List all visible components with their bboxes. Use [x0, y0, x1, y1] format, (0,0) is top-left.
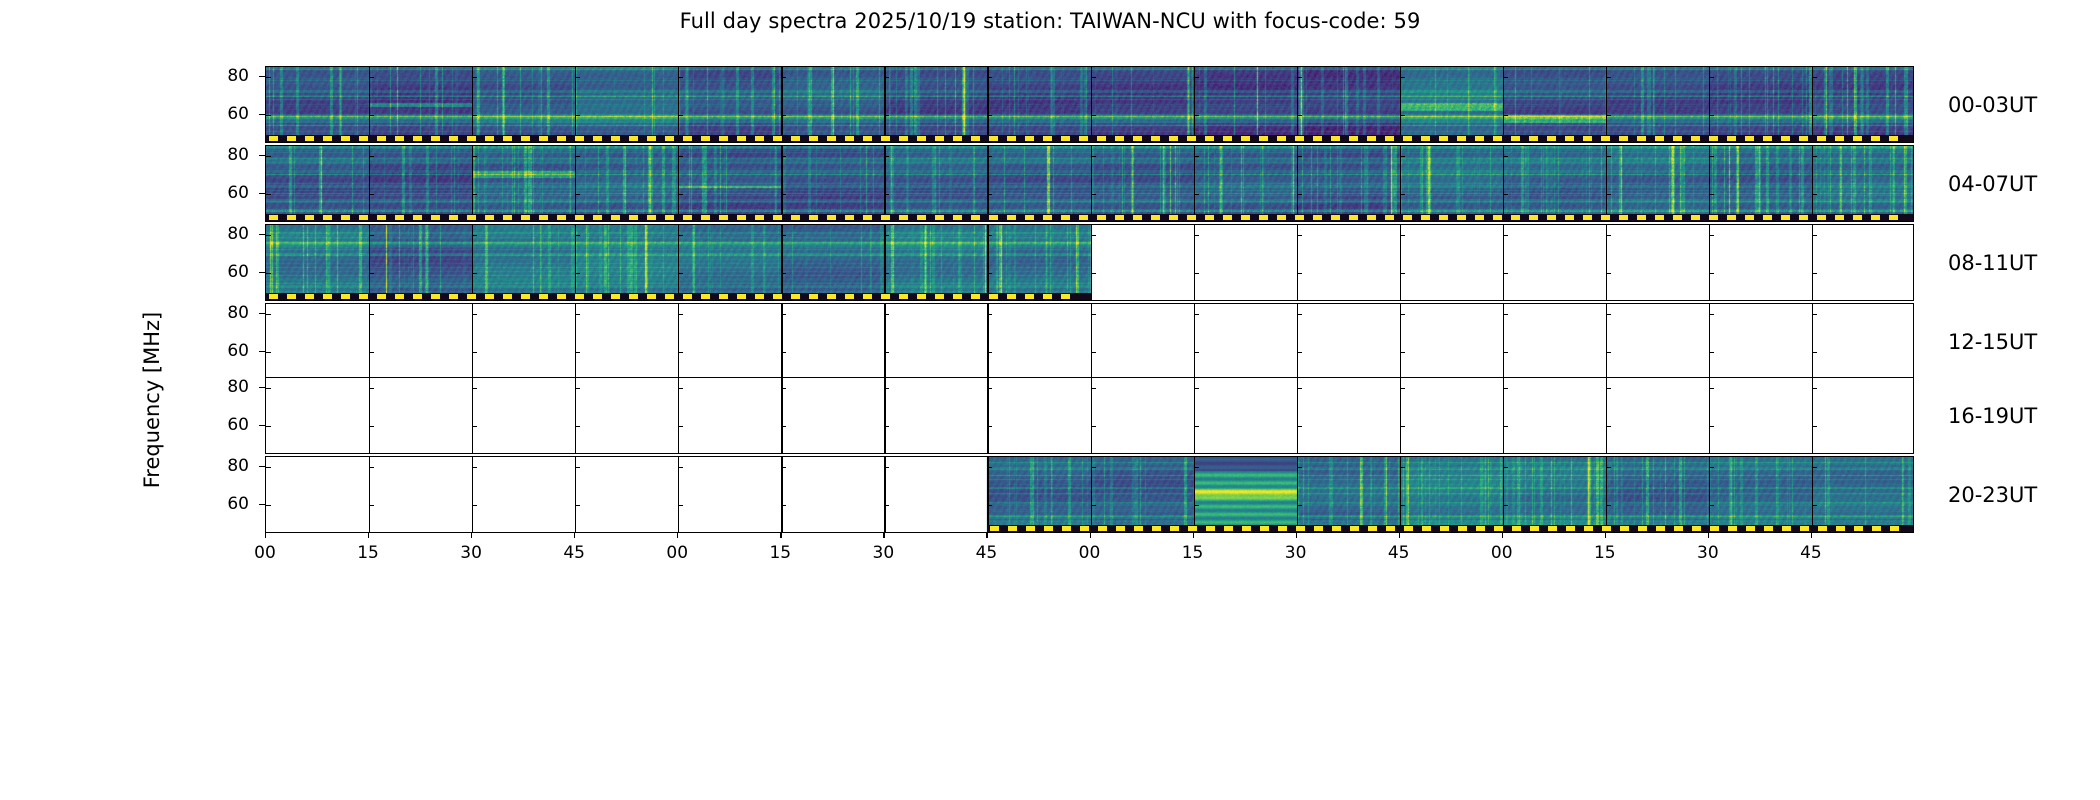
panel-separator: [369, 67, 370, 142]
panel-y-tick: [781, 235, 786, 236]
panel-y-tick: [1297, 505, 1302, 506]
panel-y-tick: [781, 388, 786, 389]
panel-separator: [1503, 146, 1504, 221]
marker-dash: [863, 215, 872, 220]
panel-separator: [1709, 378, 1710, 453]
panel-y-tick: [1606, 426, 1611, 427]
panel-y-tick: [266, 156, 271, 157]
marker-dash: [1458, 526, 1467, 531]
panel-separator: [781, 457, 782, 532]
panel-separator: [781, 146, 782, 221]
panel-y-tick: [781, 194, 786, 195]
marker-dash: [845, 294, 854, 299]
marker-dash: [971, 294, 980, 299]
panel-y-tick: [1812, 467, 1817, 468]
panel-separator: [472, 457, 473, 532]
marker-dash: [1277, 136, 1286, 141]
row-label-12-15ut: 12-15UT: [1948, 330, 2037, 354]
marker-dash: [755, 215, 764, 220]
panel-y-tick: [1400, 426, 1405, 427]
panel-y-tick: [1503, 115, 1508, 116]
marker-dash: [1547, 136, 1556, 141]
marker-dash: [629, 136, 638, 141]
panel-y-tick: [1400, 352, 1405, 353]
panel-y-tick: [1606, 467, 1611, 468]
panel-separator: [1503, 304, 1504, 379]
marker-dash: [611, 136, 620, 141]
panel-separator: [1400, 146, 1401, 221]
y-tick-label: 60: [199, 415, 249, 435]
panel-y-tick: [369, 115, 374, 116]
marker-dash: [737, 215, 746, 220]
marker-dash: [1799, 215, 1808, 220]
marker-dash: [1655, 215, 1664, 220]
marker-dash: [1782, 526, 1791, 531]
marker-dash: [1007, 215, 1016, 220]
panel-y-tick: [1606, 314, 1611, 315]
marker-dash: [1530, 526, 1539, 531]
panel-separator: [678, 146, 679, 221]
x-tick-label: 15: [1594, 543, 1616, 563]
marker-dash: [809, 215, 818, 220]
marker-dash: [575, 136, 584, 141]
panel-y-tick: [575, 194, 580, 195]
marker-dash: [647, 215, 656, 220]
marker-dash: [1061, 215, 1070, 220]
marker-dash: [629, 215, 638, 220]
data-availability-marker: [266, 293, 1091, 300]
y-tick-mark: [259, 313, 265, 314]
marker-dash: [341, 215, 350, 220]
panel-y-tick: [678, 505, 683, 506]
data-availability-marker: [987, 525, 1914, 532]
panel-y-tick: [472, 426, 477, 427]
y-tick-label: 60: [199, 183, 249, 203]
panel-y-tick: [369, 194, 374, 195]
marker-dash: [413, 136, 422, 141]
panel-separator: [884, 457, 885, 532]
y-tick-label: 60: [199, 104, 249, 124]
panel-y-tick: [1503, 77, 1508, 78]
marker-dash: [287, 215, 296, 220]
x-tick-mark: [368, 533, 369, 538]
marker-dash: [1781, 215, 1790, 220]
marker-dash: [1836, 526, 1845, 531]
panel-separator: [369, 146, 370, 221]
x-tick-label: 45: [1388, 543, 1410, 563]
panel-y-tick: [472, 235, 477, 236]
marker-dash: [1241, 136, 1250, 141]
panel-y-tick: [266, 115, 271, 116]
marker-dash: [269, 215, 278, 220]
panel-y-tick: [472, 115, 477, 116]
marker-dash: [1061, 136, 1070, 141]
panel-y-tick: [1709, 77, 1714, 78]
marker-dash: [1367, 215, 1376, 220]
marker-dash: [1512, 526, 1521, 531]
x-tick-label: 30: [1697, 543, 1719, 563]
marker-dash: [935, 136, 944, 141]
marker-dash: [1475, 136, 1484, 141]
panel-y-tick: [884, 505, 889, 506]
panel-y-tick: [1400, 467, 1405, 468]
panel-y-tick: [1709, 314, 1714, 315]
panel-y-tick: [1091, 273, 1096, 274]
panel-y-tick: [369, 352, 374, 353]
marker-dash: [1692, 526, 1701, 531]
marker-dash: [1205, 215, 1214, 220]
panel-y-tick: [472, 156, 477, 157]
y-tick-mark: [259, 155, 265, 156]
marker-dash: [1854, 526, 1863, 531]
panel-y-tick: [1091, 352, 1096, 353]
x-tick-mark: [1811, 533, 1812, 538]
x-tick-label: 15: [1182, 543, 1204, 563]
marker-dash: [1674, 526, 1683, 531]
marker-dash: [1008, 526, 1017, 531]
panel-y-tick: [1400, 388, 1405, 389]
row-label-16-19ut: 16-19UT: [1948, 404, 2037, 428]
panel-y-tick: [678, 467, 683, 468]
x-tick-mark: [1708, 533, 1709, 538]
panel-separator: [1709, 457, 1710, 532]
marker-dash: [449, 136, 458, 141]
marker-dash: [773, 215, 782, 220]
panel-y-tick: [1297, 467, 1302, 468]
marker-dash: [1727, 215, 1736, 220]
panel-y-tick: [1503, 426, 1508, 427]
x-tick-label: 00: [666, 543, 688, 563]
marker-dash: [1313, 136, 1322, 141]
marker-dash: [1061, 294, 1070, 299]
panel-separator: [987, 304, 988, 379]
panel-y-tick: [1709, 194, 1714, 195]
panel-y-tick: [1400, 314, 1405, 315]
panel-separator: [987, 457, 988, 532]
marker-dash: [305, 136, 314, 141]
marker-dash: [1476, 526, 1485, 531]
panel-y-tick: [575, 426, 580, 427]
panel-separator: [884, 304, 885, 379]
marker-dash: [1098, 526, 1107, 531]
panel-y-tick: [1709, 156, 1714, 157]
panel-y-tick: [1297, 314, 1302, 315]
marker-dash: [1349, 215, 1358, 220]
panel-y-tick: [1812, 314, 1817, 315]
marker-dash: [1367, 136, 1376, 141]
marker-dash: [1278, 526, 1287, 531]
marker-dash: [863, 294, 872, 299]
x-tick-mark: [471, 533, 472, 538]
panel-y-tick: [266, 314, 271, 315]
panel-separator: [1503, 457, 1504, 532]
panel-y-tick: [781, 467, 786, 468]
panel-y-tick: [575, 235, 580, 236]
panel-separator: [1091, 146, 1092, 221]
panel-y-tick: [1709, 426, 1714, 427]
panel-y-tick: [1400, 235, 1405, 236]
panel-y-tick: [678, 426, 683, 427]
panel-separator: [884, 378, 885, 453]
marker-dash: [1457, 136, 1466, 141]
panel-y-tick: [781, 115, 786, 116]
marker-dash: [323, 136, 332, 141]
panel-y-tick: [1606, 115, 1611, 116]
spectrogram-row-00-03ut[interactable]: [265, 66, 1914, 143]
panel-y-tick: [1091, 156, 1096, 157]
marker-dash: [1655, 136, 1664, 141]
row-label-08-11ut: 08-11UT: [1948, 251, 2037, 275]
marker-dash: [611, 215, 620, 220]
marker-dash: [1673, 136, 1682, 141]
marker-dash: [503, 215, 512, 220]
panel-separator: [472, 378, 473, 453]
panel-separator: [1297, 146, 1298, 221]
x-tick-mark: [1399, 533, 1400, 538]
marker-dash: [1062, 526, 1071, 531]
marker-dash: [485, 215, 494, 220]
marker-dash: [1548, 526, 1557, 531]
panel-separator: [1606, 378, 1607, 453]
marker-dash: [1295, 215, 1304, 220]
marker-dash: [1133, 136, 1142, 141]
spectrogram-row-04-07ut[interactable]: [265, 145, 1914, 222]
marker-dash: [1818, 526, 1827, 531]
marker-dash: [1043, 136, 1052, 141]
marker-dash: [1169, 136, 1178, 141]
row-label-04-07ut: 04-07UT: [1948, 172, 2037, 196]
panel-y-tick: [1709, 273, 1714, 274]
marker-dash: [1043, 215, 1052, 220]
panel-separator: [1297, 67, 1298, 142]
marker-dash: [1259, 215, 1268, 220]
marker-dash: [827, 215, 836, 220]
panel-y-tick: [1709, 388, 1714, 389]
marker-dash: [1583, 215, 1592, 220]
marker-dash: [1403, 215, 1412, 220]
marker-dash: [1853, 136, 1862, 141]
marker-dash: [1350, 526, 1359, 531]
row-label-20-23ut: 20-23UT: [1948, 483, 2037, 507]
marker-dash: [503, 136, 512, 141]
marker-dash: [1493, 136, 1502, 141]
marker-dash: [827, 136, 836, 141]
panel-y-tick: [266, 194, 271, 195]
panel-y-tick: [1091, 115, 1096, 116]
panel-y-tick: [1503, 314, 1508, 315]
panel-separator: [369, 225, 370, 300]
y-tick-label: 80: [199, 303, 249, 323]
marker-dash: [1080, 526, 1089, 531]
marker-dash: [1835, 136, 1844, 141]
panel-separator: [1091, 67, 1092, 142]
marker-dash: [287, 136, 296, 141]
marker-dash: [719, 215, 728, 220]
marker-dash: [1116, 526, 1125, 531]
page-title: Full day spectra 2025/10/19 station: TAI…: [0, 9, 2100, 33]
panel-y-tick: [1606, 352, 1611, 353]
marker-dash: [971, 136, 980, 141]
panel-separator: [987, 146, 988, 221]
marker-dash: [1079, 215, 1088, 220]
panel-y-tick: [1503, 194, 1508, 195]
marker-dash: [1422, 526, 1431, 531]
marker-dash: [1439, 215, 1448, 220]
marker-dash: [989, 136, 998, 141]
y-axis-label: Frequency [MHz]: [140, 312, 164, 488]
marker-dash: [1331, 136, 1340, 141]
panel-y-tick: [369, 77, 374, 78]
panel-y-tick: [575, 505, 580, 506]
marker-dash: [1206, 526, 1215, 531]
panel-y-tick: [1194, 115, 1199, 116]
panel-y-tick: [1812, 77, 1817, 78]
marker-dash: [629, 294, 638, 299]
marker-dash: [1368, 526, 1377, 531]
marker-dash: [395, 294, 404, 299]
spectrogram-row-08-11ut[interactable]: [265, 224, 1914, 301]
marker-dash: [1044, 526, 1053, 531]
panel-separator: [1297, 304, 1298, 379]
marker-dash: [683, 294, 692, 299]
panel-y-tick: [472, 388, 477, 389]
panel-separator: [1812, 457, 1813, 532]
marker-dash: [1746, 526, 1755, 531]
marker-dash: [539, 136, 548, 141]
marker-dash: [1493, 215, 1502, 220]
marker-dash: [917, 294, 926, 299]
panel-separator: [1400, 457, 1401, 532]
marker-dash: [1889, 215, 1898, 220]
spectrogram-row-16-19ut[interactable]: [265, 377, 1914, 454]
marker-dash: [1007, 136, 1016, 141]
marker-dash: [701, 136, 710, 141]
spectrogram-row-12-15ut[interactable]: [265, 303, 1914, 380]
panel-separator: [1812, 67, 1813, 142]
panel-y-tick: [1503, 273, 1508, 274]
panel-y-tick: [1297, 426, 1302, 427]
marker-dash: [917, 215, 926, 220]
marker-dash: [593, 136, 602, 141]
marker-dash: [1025, 136, 1034, 141]
marker-dash: [1547, 215, 1556, 220]
panel-separator: [1194, 146, 1195, 221]
panel-separator: [1091, 225, 1092, 300]
panel-y-tick: [678, 115, 683, 116]
panel-separator: [1091, 304, 1092, 379]
marker-dash: [1349, 136, 1358, 141]
marker-dash: [1619, 215, 1628, 220]
panel-y-tick: [1812, 505, 1817, 506]
panel-separator: [1812, 225, 1813, 300]
panel-y-tick: [1297, 194, 1302, 195]
marker-dash: [1025, 215, 1034, 220]
panel-y-tick: [1091, 426, 1096, 427]
marker-dash: [1764, 526, 1773, 531]
panel-separator: [1709, 225, 1710, 300]
marker-dash: [1115, 136, 1124, 141]
panel-separator: [1606, 457, 1607, 532]
marker-dash: [593, 294, 602, 299]
marker-dash: [485, 136, 494, 141]
panel-y-tick: [1503, 505, 1508, 506]
spectrogram-row-20-23ut[interactable]: [265, 456, 1914, 533]
panel-y-tick: [472, 314, 477, 315]
panel-y-tick: [1194, 314, 1199, 315]
marker-dash: [431, 294, 440, 299]
marker-dash: [863, 136, 872, 141]
marker-dash: [1188, 526, 1197, 531]
panel-y-tick: [1091, 77, 1096, 78]
marker-dash: [917, 136, 926, 141]
marker-dash: [593, 215, 602, 220]
panel-y-tick: [266, 505, 271, 506]
marker-dash: [557, 215, 566, 220]
panel-separator: [884, 146, 885, 221]
panel-y-tick: [369, 273, 374, 274]
marker-dash: [539, 215, 548, 220]
panel-y-tick: [781, 77, 786, 78]
marker-dash: [1133, 215, 1142, 220]
marker-dash: [1709, 136, 1718, 141]
panel-y-tick: [884, 77, 889, 78]
x-tick-mark: [986, 533, 987, 538]
marker-dash: [323, 294, 332, 299]
marker-dash: [503, 294, 512, 299]
panel-y-tick: [987, 314, 992, 315]
panel-separator: [987, 378, 988, 453]
marker-dash: [1403, 136, 1412, 141]
marker-dash: [1709, 215, 1718, 220]
panel-y-tick: [1194, 505, 1199, 506]
marker-dash: [791, 136, 800, 141]
marker-dash: [1584, 526, 1593, 531]
marker-dash: [1763, 136, 1772, 141]
panel-y-tick: [369, 156, 374, 157]
panel-y-tick: [884, 467, 889, 468]
panel-separator: [1297, 225, 1298, 300]
marker-dash: [1853, 215, 1862, 220]
panel-separator: [1709, 67, 1710, 142]
panel-y-tick: [1503, 467, 1508, 468]
marker-dash: [1691, 215, 1700, 220]
panel-separator: [1400, 67, 1401, 142]
marker-dash: [521, 136, 530, 141]
panel-separator: [1194, 225, 1195, 300]
panel-y-tick: [987, 156, 992, 157]
marker-dash: [647, 294, 656, 299]
panel-y-tick: [1297, 115, 1302, 116]
marker-dash: [1871, 215, 1880, 220]
marker-dash: [1187, 136, 1196, 141]
panel-y-tick: [987, 77, 992, 78]
panel-y-tick: [678, 352, 683, 353]
panel-separator: [369, 378, 370, 453]
panel-separator: [575, 304, 576, 379]
y-tick-mark: [259, 425, 265, 426]
marker-dash: [1205, 136, 1214, 141]
marker-dash: [1565, 215, 1574, 220]
marker-dash: [1637, 136, 1646, 141]
panel-y-tick: [1400, 505, 1405, 506]
y-tick-mark: [259, 272, 265, 273]
marker-dash: [1440, 526, 1449, 531]
x-tick-label: 45: [1800, 543, 1822, 563]
panel-y-tick: [1091, 467, 1096, 468]
panel-separator: [575, 146, 576, 221]
marker-dash: [1241, 215, 1250, 220]
marker-dash: [701, 215, 710, 220]
